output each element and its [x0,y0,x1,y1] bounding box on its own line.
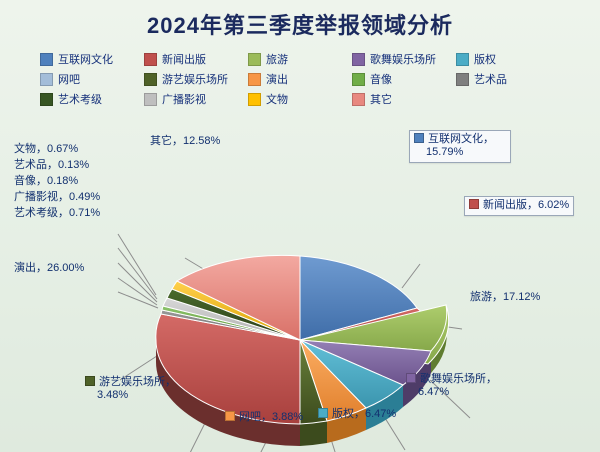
legend-item[interactable]: 演出 [248,72,352,86]
legend-swatch [144,73,157,86]
data-label-banquan: 版权，6.47% [318,408,396,421]
data-label-gewuyulechangsuo: 歌舞娱乐场所，6.47% [406,373,506,399]
legend-swatch [352,53,365,66]
legend-swatch [248,53,261,66]
legend-label: 互联网文化 [58,51,113,67]
legend-swatch [144,93,157,106]
data-label-wenwu: 文物，0.67% [14,143,78,156]
legend-label: 歌舞娱乐场所 [370,51,436,67]
legend-item[interactable]: 其它 [352,92,456,106]
legend-label: 音像 [370,71,392,87]
legend-swatch [456,73,469,86]
data-label-yishupin: 艺术品，0.13% [14,159,89,172]
data-label-lvyou: 旅游，17.12% [470,291,540,304]
data-label-yinxiang: 音像，0.18% [14,175,78,188]
legend-swatch [352,73,365,86]
legend-item[interactable]: 旅游 [248,52,352,66]
legend-item[interactable]: 新闻出版 [144,52,248,66]
legend-label: 广播影视 [162,91,206,107]
data-label-hulianwangwenhua: 互联网文化，15.79% [409,130,511,163]
legend-item[interactable]: 网吧 [40,72,144,86]
data-label-guangboyingshi: 广播影视，0.49% [14,191,100,204]
legend-item[interactable]: 互联网文化 [40,52,144,66]
legend-marker-xinwenchuban [469,199,479,209]
data-label-xinwenchuban: 新闻出版，6.02% [464,196,574,216]
legend-label: 其它 [370,91,392,107]
legend-swatch [456,53,469,66]
data-label-qita: 其它，12.58% [150,135,220,148]
legend-swatch [248,73,261,86]
data-label-youyiyulechangsuo: 游艺娱乐场所，3.48% [85,376,195,402]
legend-label: 艺术考级 [58,91,102,107]
data-label-yishukaoji: 艺术考级，0.71% [14,207,100,220]
data-label-yanchu: 演出，26.00% [14,262,84,275]
legend-marker-wangba [225,411,235,421]
data-label-wangba: 网吧，3.88% [225,411,303,424]
legend-label: 版权 [474,51,496,67]
legend-marker-hulianwangwenhua [414,133,424,143]
pie-chart-plot: 文物，0.67% 艺术品，0.13% 音像，0.18% 广播影视，0.49% 艺… [0,118,600,452]
legend-item[interactable]: 歌舞娱乐场所 [352,52,456,66]
legend-item[interactable]: 艺术品 [456,72,560,86]
legend-item[interactable]: 版权 [456,52,560,66]
legend-swatch [40,93,53,106]
legend-swatch [144,53,157,66]
chart-legend: 互联网文化 新闻出版 旅游 歌舞娱乐场所 版权 网吧 游艺娱乐场所 演出 音像 … [40,52,560,112]
legend-marker-gewuyulechangsuo [406,373,416,383]
legend-label: 旅游 [266,51,288,67]
legend-label: 文物 [266,91,288,107]
legend-marker-banquan [318,408,328,418]
legend-swatch [352,93,365,106]
legend-item[interactable]: 艺术考级 [40,92,144,106]
legend-item[interactable]: 音像 [352,72,456,86]
legend-label: 演出 [266,71,288,87]
legend-label: 游艺娱乐场所 [162,71,228,87]
legend-item[interactable]: 广播影视 [144,92,248,106]
legend-item[interactable]: 游艺娱乐场所 [144,72,248,86]
legend-swatch [40,73,53,86]
legend-swatch [40,53,53,66]
legend-swatch [248,93,261,106]
legend-label: 网吧 [58,71,80,87]
legend-label: 新闻出版 [162,51,206,67]
legend-marker-youyiyulechangsuo [85,376,95,386]
chart-title: 2024年第三季度举报领域分析 [0,8,600,40]
legend-label: 艺术品 [474,71,507,87]
legend-item[interactable]: 文物 [248,92,352,106]
